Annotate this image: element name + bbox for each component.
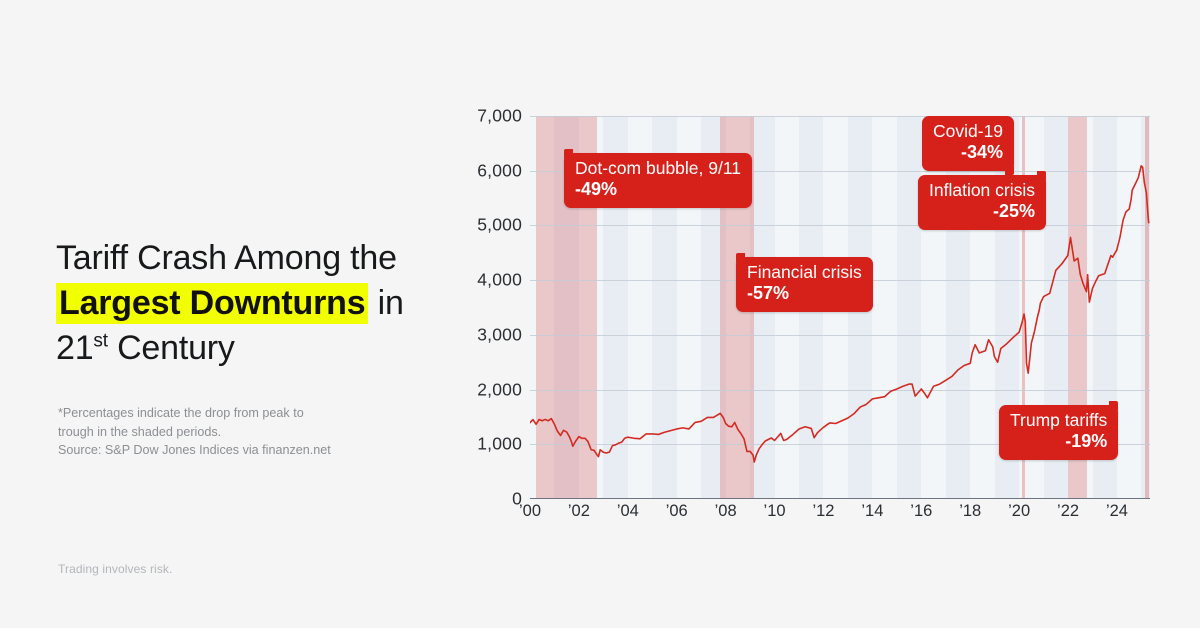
- callout-notch-icon: [564, 149, 573, 158]
- page-title: Tariff Crash Among the Largest Downturns…: [56, 236, 456, 371]
- y-axis-labels: 01,0002,0003,0004,0005,0006,0007,000: [462, 96, 522, 480]
- y-axis-tick-label: 3,000: [477, 324, 522, 345]
- x-axis-tick-label: ’00: [519, 502, 541, 521]
- x-axis-tick-label: ’02: [568, 502, 590, 521]
- x-axis-line: [530, 498, 1150, 500]
- x-axis-tick-label: ’10: [764, 502, 786, 521]
- headline-highlight: Largest Downturns: [56, 283, 368, 324]
- y-axis-tick-label: 6,000: [477, 160, 522, 181]
- annotation-title: Trump tariffs: [1010, 410, 1107, 431]
- callout-notch-icon: [736, 253, 745, 262]
- annotation-title: Inflation crisis: [929, 180, 1035, 201]
- risk-disclaimer: Trading involves risk.: [58, 562, 172, 576]
- x-axis-labels: ’00’02’04’06’08’10’12’14’16’18’20’22’24: [530, 502, 1150, 526]
- annotation-pct: -34%: [933, 142, 1003, 164]
- annotation-dotcom[interactable]: Dot-com bubble, 9/11 -49%: [564, 153, 752, 208]
- annotation-title: Dot-com bubble, 9/11: [575, 158, 741, 179]
- footnote-line-1: *Percentages indicate the drop from peak…: [58, 404, 418, 423]
- x-axis-tick-label: ’22: [1057, 502, 1079, 521]
- headline-line-2-tail: in: [368, 284, 403, 322]
- annotation-pct: -57%: [747, 283, 862, 305]
- callout-notch-icon: [1005, 166, 1014, 175]
- callout-notch-icon: [1037, 171, 1046, 180]
- annotation-pct: -49%: [575, 179, 741, 201]
- y-axis-tick-label: 5,000: [477, 215, 522, 236]
- y-axis-tick-label: 4,000: [477, 270, 522, 291]
- y-axis-tick-label: 2,000: [477, 379, 522, 400]
- x-axis-tick-label: ’20: [1008, 502, 1030, 521]
- annotation-inflation[interactable]: Inflation crisis -25%: [918, 175, 1046, 230]
- x-axis-tick-label: ’24: [1106, 502, 1128, 521]
- annotation-title: Financial crisis: [747, 262, 862, 283]
- annotation-trump-tariffs[interactable]: Trump tariffs -19%: [999, 405, 1118, 460]
- x-axis-tick-label: ’16: [910, 502, 932, 521]
- headline-line-1: Tariff Crash Among the: [56, 236, 456, 281]
- annotation-pct: -25%: [929, 201, 1035, 223]
- footnote-line-2: trough in the shaded periods.: [58, 423, 418, 442]
- infographic-canvas: Tariff Crash Among the Largest Downturns…: [0, 0, 1200, 628]
- x-axis-tick-label: ’18: [959, 502, 981, 521]
- annotation-title: Covid-19: [933, 121, 1003, 142]
- x-axis-tick-label: ’08: [715, 502, 737, 521]
- footnote-block: *Percentages indicate the drop from peak…: [58, 404, 418, 460]
- x-axis-tick-label: ’06: [666, 502, 688, 521]
- annotation-pct: -19%: [1010, 431, 1107, 453]
- annotation-financial-crisis[interactable]: Financial crisis -57%: [736, 257, 873, 312]
- annotation-covid[interactable]: Covid-19 -34%: [922, 116, 1014, 171]
- headline-line-2: Largest Downturns in: [56, 281, 456, 326]
- x-axis-tick-label: ’04: [617, 502, 639, 521]
- x-axis-tick-label: ’14: [861, 502, 883, 521]
- headline-line-3: 21st Century: [56, 326, 456, 371]
- y-axis-tick-label: 1,000: [477, 434, 522, 455]
- source-line: Source: S&P Dow Jones Indices via finanz…: [58, 441, 418, 460]
- x-axis-tick-label: ’12: [812, 502, 834, 521]
- headline-line-3-tail: Century: [108, 329, 235, 367]
- y-axis-tick-label: 7,000: [477, 106, 522, 127]
- headline-ordinal-suffix: st: [93, 330, 107, 351]
- chart-container: 01,0002,0003,0004,0005,0006,0007,000 ’00…: [462, 96, 1172, 526]
- headline-block: Tariff Crash Among the Largest Downturns…: [56, 236, 456, 371]
- headline-century-number: 21: [56, 329, 93, 367]
- callout-notch-icon: [1109, 401, 1118, 410]
